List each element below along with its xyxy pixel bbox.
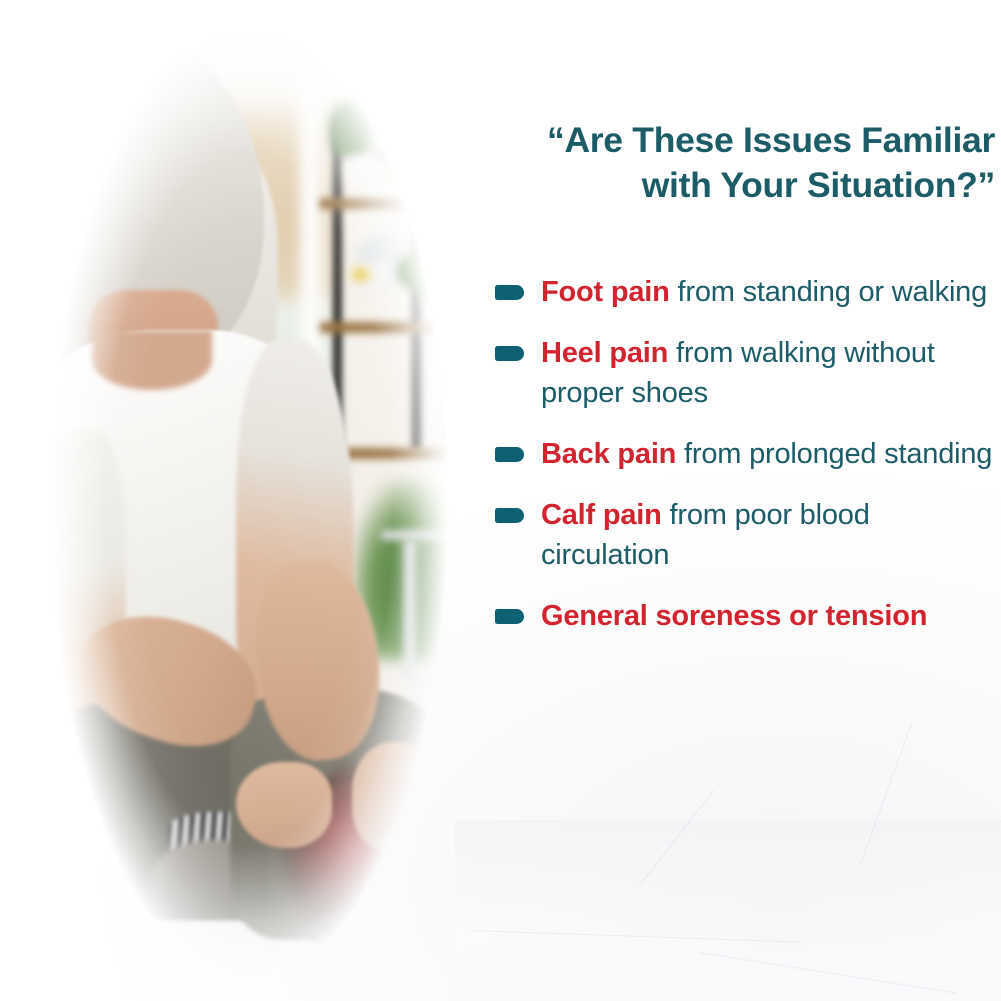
photo-person-collar (92, 330, 212, 390)
list-item-highlight: Foot pain (541, 276, 670, 308)
list-item-highlight: General soreness or tension (541, 600, 927, 632)
list-item-highlight: Calf pain (541, 499, 662, 531)
tag-marker-icon (495, 609, 524, 624)
list-item-text: Heel pain from walking without proper sh… (541, 333, 1001, 413)
tag-marker-icon (495, 447, 524, 462)
list-item-text: Back pain from prolonged standing (541, 434, 1001, 474)
photo-shelf-post (446, 140, 454, 460)
photo-shelf-plant (330, 100, 376, 158)
photo-person-hand (236, 762, 332, 848)
photo-shelf-board (320, 198, 460, 209)
photo-walker-frame (404, 540, 416, 680)
list-item-text: Foot pain from standing or walking (541, 272, 1001, 312)
promo-poster: “Are These Issues Familiar with Your Sit… (0, 0, 1001, 1001)
photo-shelf-lemons (390, 165, 414, 181)
tag-marker-icon (495, 285, 524, 300)
tag-marker-icon (495, 346, 524, 361)
photo-shelf-plant (418, 268, 448, 302)
list-item-text: Calf pain from poor blood circulation (541, 495, 1001, 575)
content-column: “Are These Issues Familiar with Your Sit… (486, 0, 1001, 1001)
photo-shelf-bowl (346, 155, 390, 185)
list-item: General soreness or tension (486, 596, 1001, 636)
hero-photo (0, 0, 470, 1001)
photo-shelf-lemons (352, 268, 370, 281)
issues-list: Foot pain from standing or walking Heel … (486, 272, 1001, 657)
list-item: Back pain from prolonged standing (486, 434, 1001, 474)
hero-photo-image (0, 0, 470, 1001)
list-item: Foot pain from standing or walking (486, 272, 1001, 312)
list-item-text: General soreness or tension (541, 596, 1001, 636)
list-item-highlight: Back pain (541, 438, 676, 470)
list-item-detail: from standing or walking (670, 276, 987, 308)
list-item-highlight: Heel pain (541, 337, 668, 369)
photo-person-hand (352, 742, 444, 852)
page-title: “Are These Issues Familiar with Your Sit… (490, 118, 995, 208)
tag-marker-icon (495, 508, 524, 523)
list-item-detail: from prolonged standing (676, 438, 992, 470)
photo-walker-frame (380, 530, 470, 540)
photo-shelf-board (320, 322, 460, 333)
list-item: Heel pain from walking without proper sh… (486, 333, 1001, 413)
list-item: Calf pain from poor blood circulation (486, 495, 1001, 575)
